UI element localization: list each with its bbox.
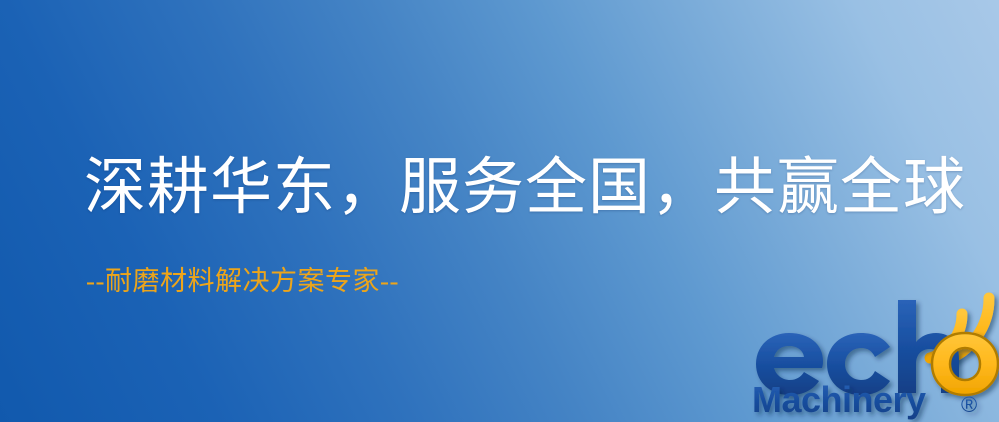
promo-banner: 深耕华东，服务全国，共赢全球 --耐磨材料解决方案专家-- bbox=[0, 0, 999, 422]
echo-machinery-logo: Machinery ® bbox=[748, 292, 999, 422]
banner-headline: 深耕华东，服务全国，共赢全球 bbox=[84, 152, 966, 224]
logo-letter-o bbox=[932, 333, 998, 395]
registered-trademark-mark: ® bbox=[961, 392, 977, 417]
logo-tagline: Machinery bbox=[752, 379, 926, 420]
banner-subtitle: --耐磨材料解决方案专家-- bbox=[86, 264, 399, 298]
